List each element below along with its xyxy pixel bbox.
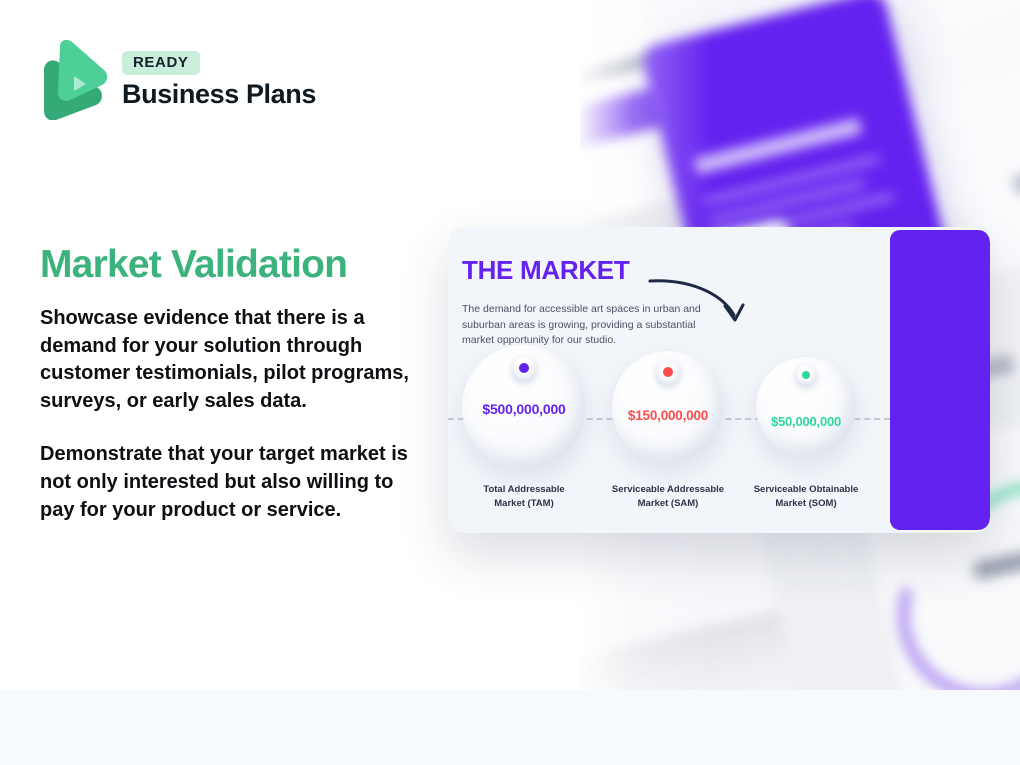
collage-dot-pattern: [580, 530, 871, 690]
ready-badge: READY: [122, 51, 200, 75]
metric-som: $50,000,000 Serviceable Obtainable Marke…: [744, 345, 868, 511]
paragraph-1: Showcase evidence that there is a demand…: [40, 305, 415, 415]
metric-label-line1: Serviceable Obtainable: [754, 484, 859, 495]
metric-label: Serviceable Obtainable Market (SOM): [736, 483, 876, 511]
metric-sam: $150,000,000 Serviceable Addressable Mar…: [606, 345, 730, 511]
market-slide-card: THE MARKET The demand for accessible art…: [448, 227, 990, 533]
brand-logo: READY Business Plans: [40, 40, 316, 120]
metric-label-line1: Total Addressable: [483, 484, 564, 495]
page-title: Market Validation: [40, 244, 440, 287]
metric-label: Serviceable Addressable Market (SAM): [598, 483, 738, 511]
market-card-title: THE MARKET: [462, 255, 629, 286]
red-dot-icon: [655, 359, 681, 385]
metric-value: $150,000,000: [628, 408, 708, 423]
purple-dot-icon: [511, 355, 537, 381]
metric-label-line2: Market (SAM): [638, 498, 699, 509]
metric-circle: $500,000,000: [462, 345, 586, 469]
curved-arrow-down-right-icon: [648, 275, 758, 335]
collage-card-1: [580, 0, 812, 228]
metric-circle: $50,000,000: [756, 357, 856, 457]
brand-name: Business Plans: [122, 79, 316, 110]
metric-tam: $500,000,000 Total Addressable Market (T…: [462, 345, 586, 511]
metric-label-line2: Market (SOM): [775, 498, 836, 509]
metric-label-line2: Market (TAM): [494, 498, 553, 509]
metric-value: $50,000,000: [771, 414, 841, 429]
metric-label: Total Addressable Market (TAM): [462, 483, 586, 511]
body-copy: Showcase evidence that there is a demand…: [40, 305, 415, 524]
market-metrics: $500,000,000 Total Addressable Market (T…: [448, 345, 890, 515]
play-triangle-logo-icon: [40, 40, 108, 120]
metric-label-line1: Serviceable Addressable: [612, 484, 724, 495]
collage-card-2: [635, 0, 972, 210]
metric-value: $500,000,000: [482, 401, 565, 417]
metric-circle: $150,000,000: [612, 351, 724, 463]
slide-page: READY Business Plans Market Validation S…: [0, 0, 1020, 765]
paragraph-2: Demonstrate that your target market is n…: [40, 441, 415, 524]
bottom-band: [0, 690, 1020, 765]
accent-block: [890, 230, 990, 530]
teal-dot-icon: [795, 364, 817, 386]
